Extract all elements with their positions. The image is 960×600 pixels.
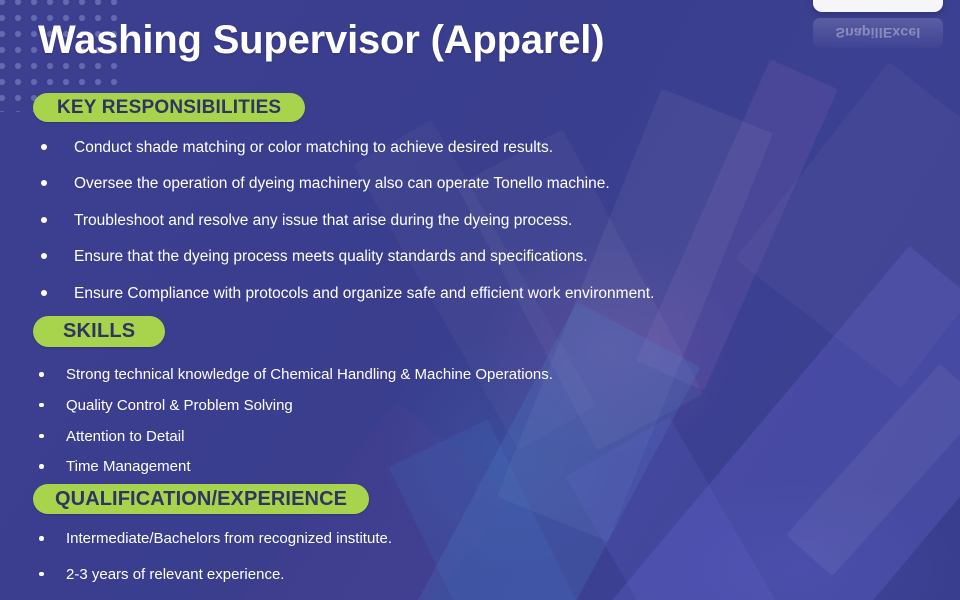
list-item: Ensure Compliance with protocols and org… [36,284,776,303]
list-item: Troubleshoot and resolve any issue that … [36,211,776,230]
bullet-icon [41,290,47,296]
list-item-text: Quality Control & Problem Solving [66,397,293,414]
responsibilities-list: Conduct shade matching or color matching… [36,138,776,320]
list-item: Time Management [34,458,734,477]
section-heading-key-responsibilities: KEY RESPONSIBILITIES [33,93,305,122]
list-item: 2-3 years of relevant experience. [34,566,734,585]
list-item-text: Strong technical knowledge of Chemical H… [66,366,553,383]
bullet-icon [39,372,44,377]
bullet-icon [41,144,47,150]
section-heading-qualification-experience: QUALIFICATION/EXPERIENCE [33,484,369,514]
list-item-text: Ensure Compliance with protocols and org… [74,285,654,302]
list-item-text: Conduct shade matching or color matching… [74,139,553,156]
bullet-icon [41,217,47,223]
skills-list: Strong technical knowledge of Chemical H… [34,366,734,489]
list-item-text: Ensure that the dyeing process meets qua… [74,248,588,265]
bullet-icon [39,464,44,469]
section-heading-skills: SKILLS [33,316,165,347]
page-title: Washing Supervisor (Apparel) [38,18,604,62]
bullet-icon [41,253,47,259]
job-posting-slide: SnapillExcel Washing Supervisor (Apparel… [0,0,960,600]
bullet-icon [39,572,44,577]
list-item: Quality Control & Problem Solving [34,397,734,416]
slide-content: Washing Supervisor (Apparel) KEY RESPONS… [0,0,960,600]
list-item: Oversee the operation of dyeing machiner… [36,174,776,193]
list-item: Conduct shade matching or color matching… [36,138,776,157]
list-item-text: Troubleshoot and resolve any issue that … [74,212,572,229]
list-item: Strong technical knowledge of Chemical H… [34,366,734,385]
qualification-list: Intermediate/Bachelors from recognized i… [34,530,734,600]
bullet-icon [39,536,44,541]
list-item-text: Attention to Detail [66,428,184,445]
list-item-text: Time Management [66,458,191,475]
list-item-text: 2-3 years of relevant experience. [66,566,284,583]
bullet-icon [39,434,44,439]
list-item: Ensure that the dyeing process meets qua… [36,247,776,266]
list-item: Intermediate/Bachelors from recognized i… [34,530,734,549]
list-item-text: Oversee the operation of dyeing machiner… [74,175,610,192]
bullet-icon [41,180,47,186]
bullet-icon [39,403,44,408]
list-item: Attention to Detail [34,428,734,447]
list-item-text: Intermediate/Bachelors from recognized i… [66,530,392,547]
